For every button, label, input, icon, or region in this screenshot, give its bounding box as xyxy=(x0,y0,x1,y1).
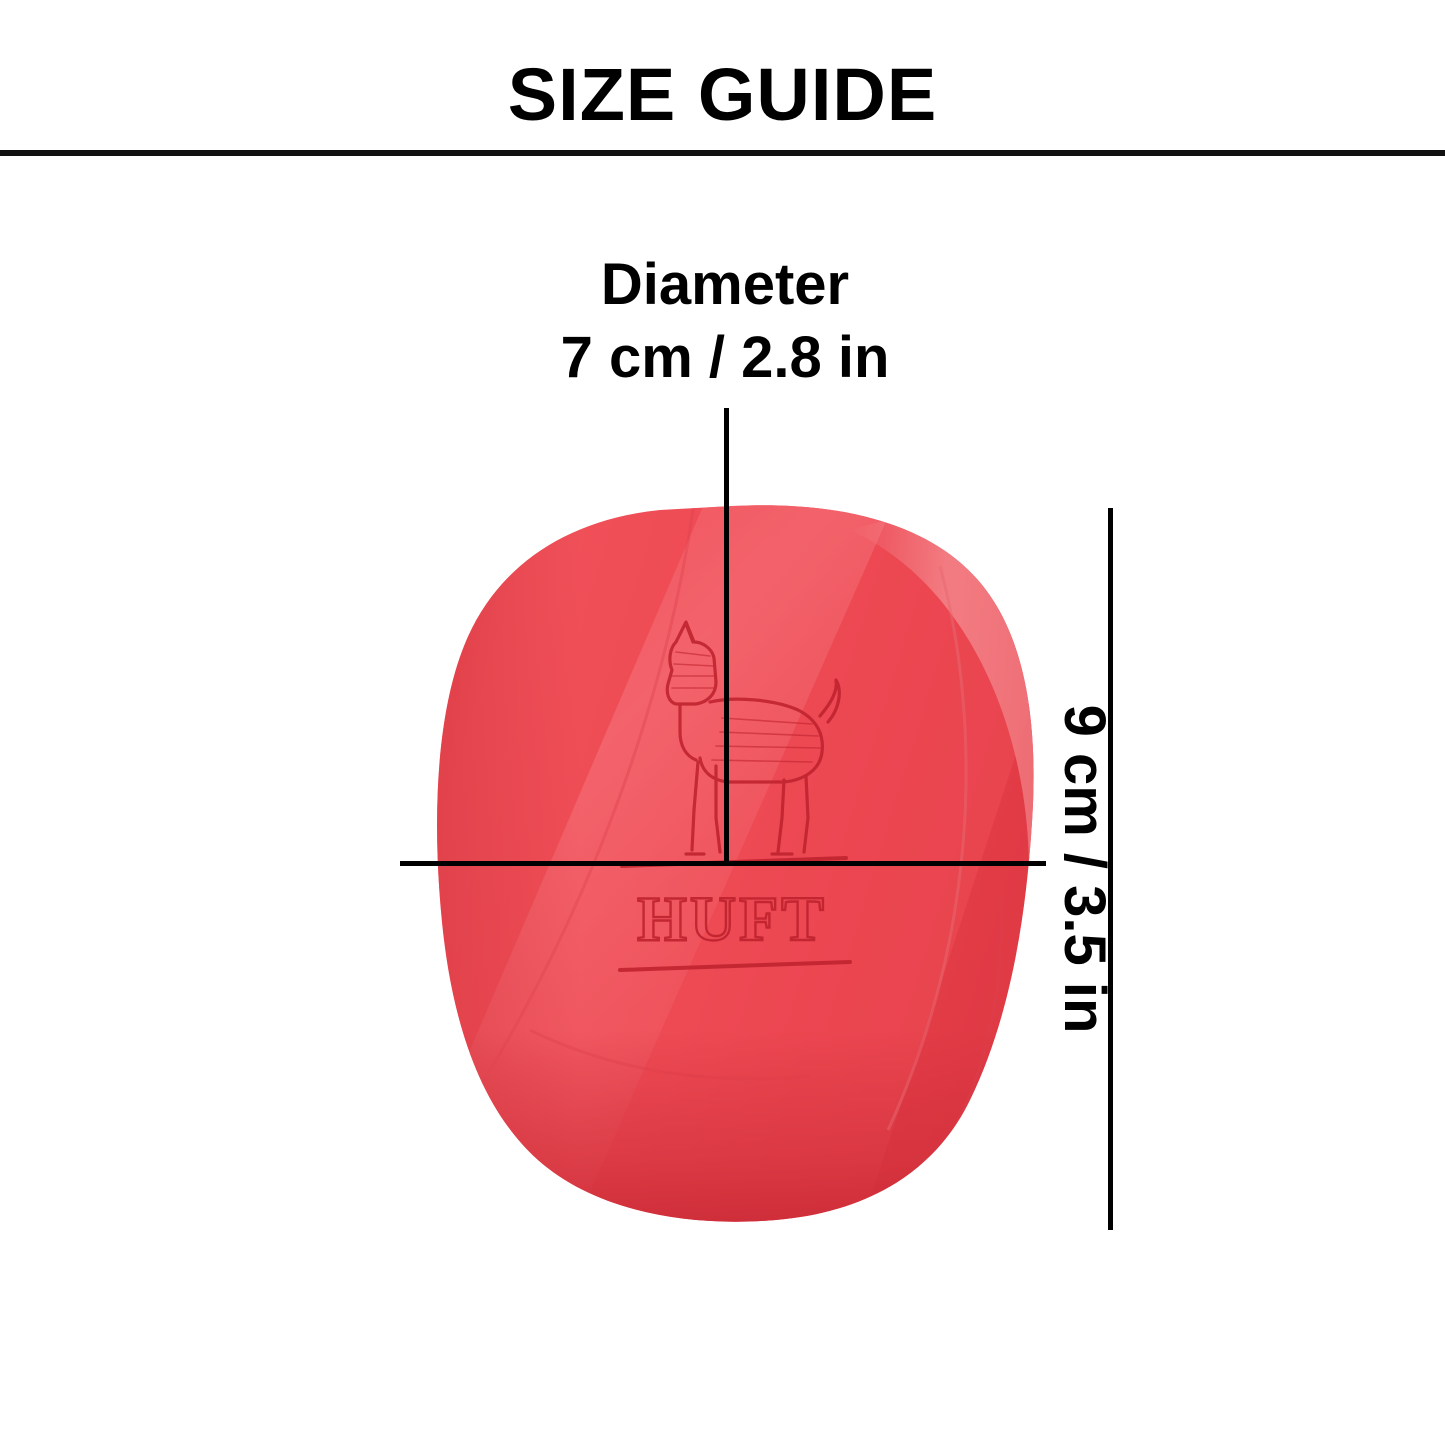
page-title: SIZE GUIDE xyxy=(0,58,1445,132)
diameter-label: Diameter xyxy=(601,252,849,317)
diameter-horizontal-guide-line xyxy=(400,861,1046,866)
diameter-value: 7 cm / 2.8 in xyxy=(430,321,1020,394)
bottom-shadow xyxy=(380,1030,1070,1260)
height-value: 9 cm / 3.5 in xyxy=(1044,508,1124,1230)
header-divider xyxy=(0,150,1445,156)
size-guide-page: SIZE GUIDE Diameter 7 cm / 2.8 in xyxy=(0,0,1445,1445)
left-edge-notch xyxy=(432,1040,452,1082)
huft-wordmark: HUFT xyxy=(637,883,827,954)
diameter-caption: Diameter 7 cm / 2.8 in xyxy=(430,248,1020,394)
diameter-vertical-guide-line xyxy=(724,408,729,866)
